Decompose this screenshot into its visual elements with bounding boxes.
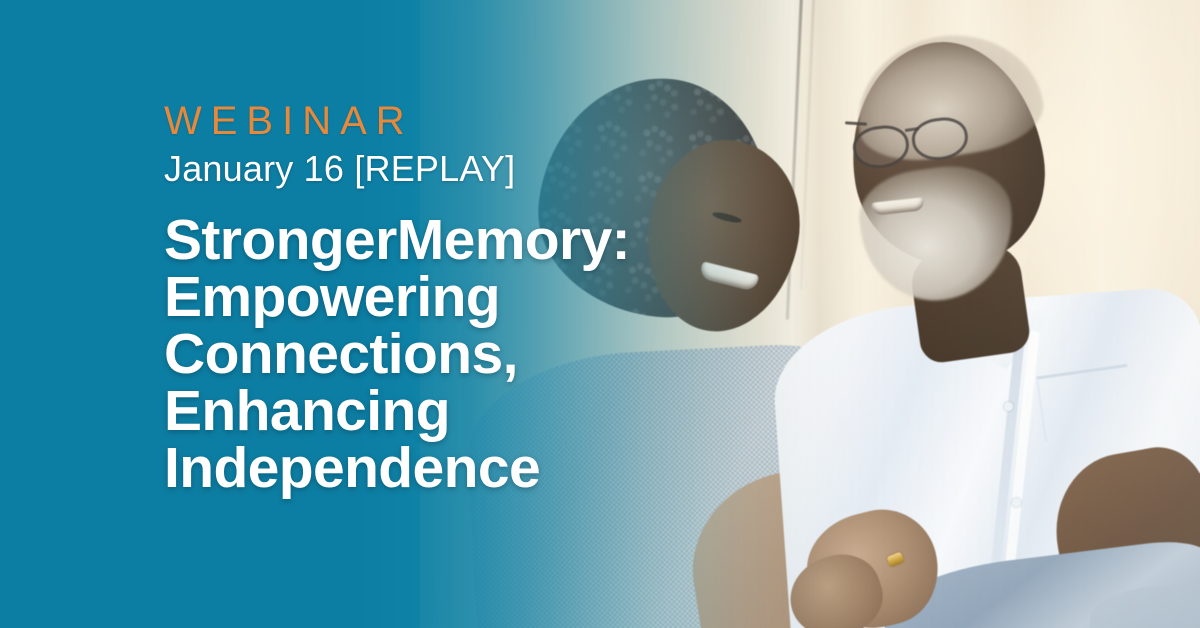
man-shirt-button xyxy=(1012,498,1021,507)
banner-text-block: WEBINAR January 16 [REPLAY] StrongerMemo… xyxy=(164,100,724,497)
man-shirt-pocket xyxy=(1036,364,1136,442)
headline-line: Independence xyxy=(164,440,724,497)
headline-line: Enhancing xyxy=(164,383,724,440)
man-shirt-button xyxy=(1004,402,1013,411)
headline-line: StrongerMemory: xyxy=(164,212,724,269)
headline-line: Connections, xyxy=(164,326,724,383)
page-title: StrongerMemory: Empowering Connections, … xyxy=(164,212,724,497)
headline-line: Empowering xyxy=(164,269,724,326)
webinar-promo-banner: WEBINAR January 16 [REPLAY] StrongerMemo… xyxy=(0,0,1200,628)
webinar-date-label: January 16 [REPLAY] xyxy=(164,149,724,189)
webinar-eyebrow-label: WEBINAR xyxy=(164,100,724,143)
